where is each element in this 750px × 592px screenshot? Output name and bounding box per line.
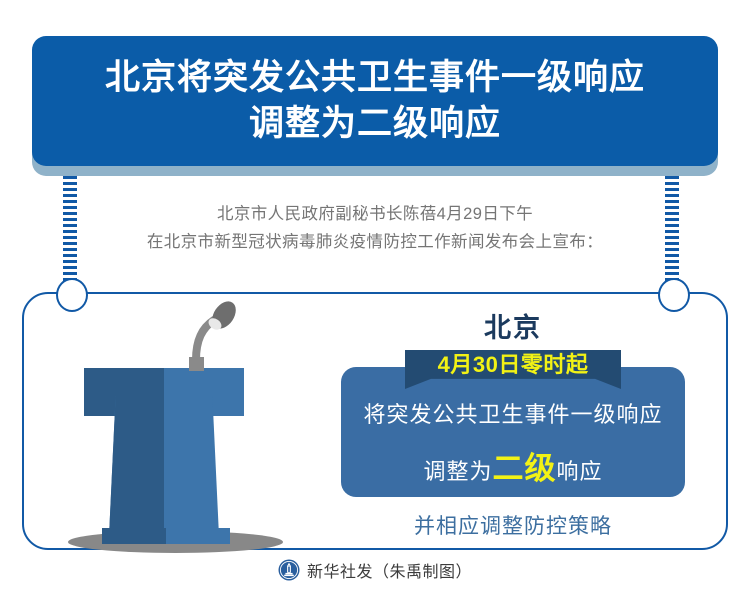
title-line-2: 调整为二级响应 bbox=[249, 101, 501, 147]
statement-suffix: 响应 bbox=[557, 459, 603, 484]
statement-prefix: 调整为 bbox=[423, 459, 492, 484]
statement-line-1: 将突发公共卫生事件一级响应 bbox=[341, 397, 685, 429]
title-line-1: 北京将突发公共卫生事件一级响应 bbox=[105, 55, 645, 101]
connector-node-left bbox=[56, 278, 88, 312]
statement-box: 将突发公共卫生事件一级响应 调整为二级响应 bbox=[341, 367, 685, 497]
city-title: 北京 bbox=[341, 306, 685, 345]
xinhua-logo-icon bbox=[278, 559, 300, 581]
subtitle-block: 北京市人民政府副秘书长陈蓓4月29日下午 在北京市新型冠状病毒肺炎疫情防控工作新… bbox=[0, 200, 750, 256]
subtitle-line-2: 在北京市新型冠状病毒肺炎疫情防控工作新闻发布会上宣布： bbox=[0, 228, 750, 256]
podium-base-left-face bbox=[102, 528, 166, 544]
podium-body-left-face bbox=[109, 396, 164, 536]
connector-node-right bbox=[658, 278, 690, 312]
footer-credit-text: 新华社发（朱禹制图） bbox=[307, 558, 472, 582]
microphone-icon bbox=[156, 300, 276, 380]
policy-note: 并相应调整防控策略 bbox=[341, 510, 685, 540]
footer-credit-row: 新华社发（朱禹制图） bbox=[0, 558, 750, 582]
date-ribbon-label: 4月30日零时起 bbox=[405, 350, 621, 380]
statement-line-2: 调整为二级响应 bbox=[341, 443, 685, 488]
title-banner: 北京将突发公共卫生事件一级响应 调整为二级响应 bbox=[32, 36, 718, 166]
statement-highlight: 二级 bbox=[493, 451, 557, 486]
podium-illustration bbox=[60, 300, 350, 550]
subtitle-line-1: 北京市人民政府副秘书长陈蓓4月29日下午 bbox=[0, 200, 750, 228]
infographic-root: 北京将突发公共卫生事件一级响应 调整为二级响应 北京市人民政府副秘书长陈蓓4月2… bbox=[0, 0, 750, 592]
